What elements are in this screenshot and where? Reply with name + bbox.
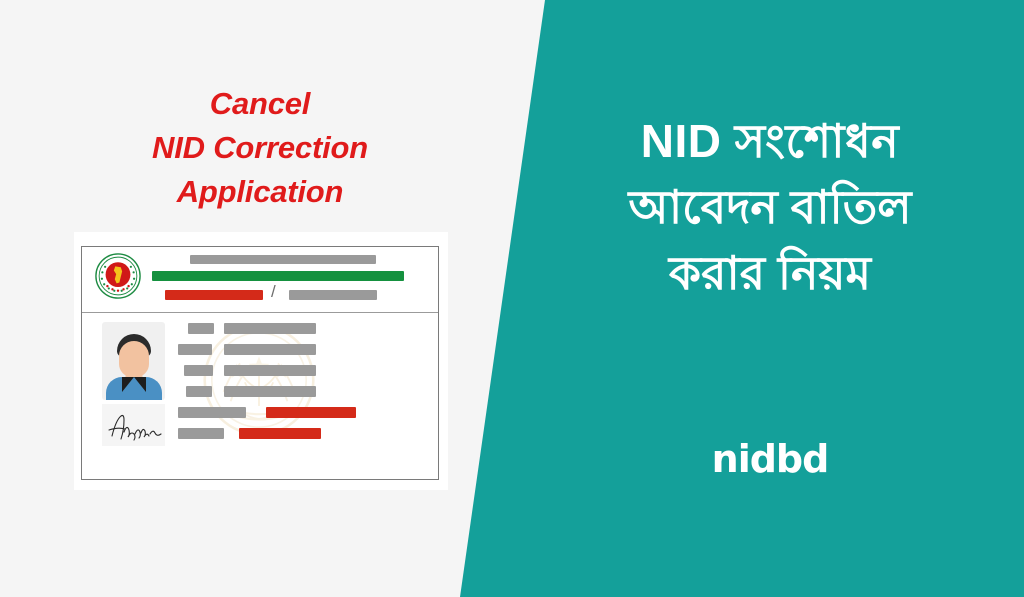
english-headline: Cancel NID Correction Application	[30, 82, 490, 214]
field-value-bar	[224, 386, 316, 397]
field-row	[178, 428, 432, 439]
field-row	[178, 344, 432, 355]
bengali-headline-line-1: NID সংশোধন	[560, 108, 980, 174]
field-value-bar	[224, 323, 316, 334]
english-headline-line-3: Application	[30, 170, 490, 214]
field-label-bar	[178, 344, 212, 355]
nid-card-body	[82, 313, 438, 480]
field-label-bar	[184, 365, 213, 376]
english-headline-line-1: Cancel	[30, 82, 490, 126]
nid-card-header-bars: /	[152, 255, 430, 308]
field-row	[178, 323, 432, 334]
nid-card-illustration: /	[81, 246, 439, 480]
nid-card-header: /	[82, 247, 438, 313]
field-label-bar	[188, 323, 214, 334]
field-value-bar-highlighted	[266, 407, 356, 418]
field-row	[178, 407, 432, 418]
field-label-bar	[178, 407, 246, 418]
nid-card-field-rows	[178, 323, 432, 449]
field-value-bar	[224, 344, 316, 355]
field-value-bar-highlighted	[239, 428, 321, 439]
english-headline-line-2: NID Correction	[30, 126, 490, 170]
avatar-collar-right	[134, 377, 146, 392]
handwritten-signature-icon	[102, 404, 165, 446]
card-type-secondary-placeholder-bar	[289, 290, 377, 300]
bengali-headline-line-3: করার নিয়ম	[560, 240, 980, 306]
card-subtitle-placeholder-bar	[152, 271, 404, 281]
card-title-placeholder-bar	[190, 255, 376, 264]
field-row	[178, 386, 432, 397]
card-type-placeholder-bar	[165, 290, 263, 300]
field-label-bar	[178, 428, 224, 439]
bengali-headline-line-2: আবেদন বাতিল	[560, 174, 980, 240]
person-avatar-icon	[102, 322, 165, 400]
bengali-headline: NID সংশোধন আবেদন বাতিল করার নিয়ম	[560, 108, 980, 307]
brand-logo-text: nidbd	[560, 437, 980, 481]
header-separator-slash: /	[271, 283, 276, 300]
field-label-bar	[186, 386, 212, 397]
field-value-bar	[224, 365, 316, 376]
poster-canvas: Cancel NID Correction Application	[0, 0, 1024, 597]
bangladesh-government-emblem-icon	[95, 253, 141, 299]
avatar-collar-left	[122, 377, 134, 392]
field-row	[178, 365, 432, 376]
